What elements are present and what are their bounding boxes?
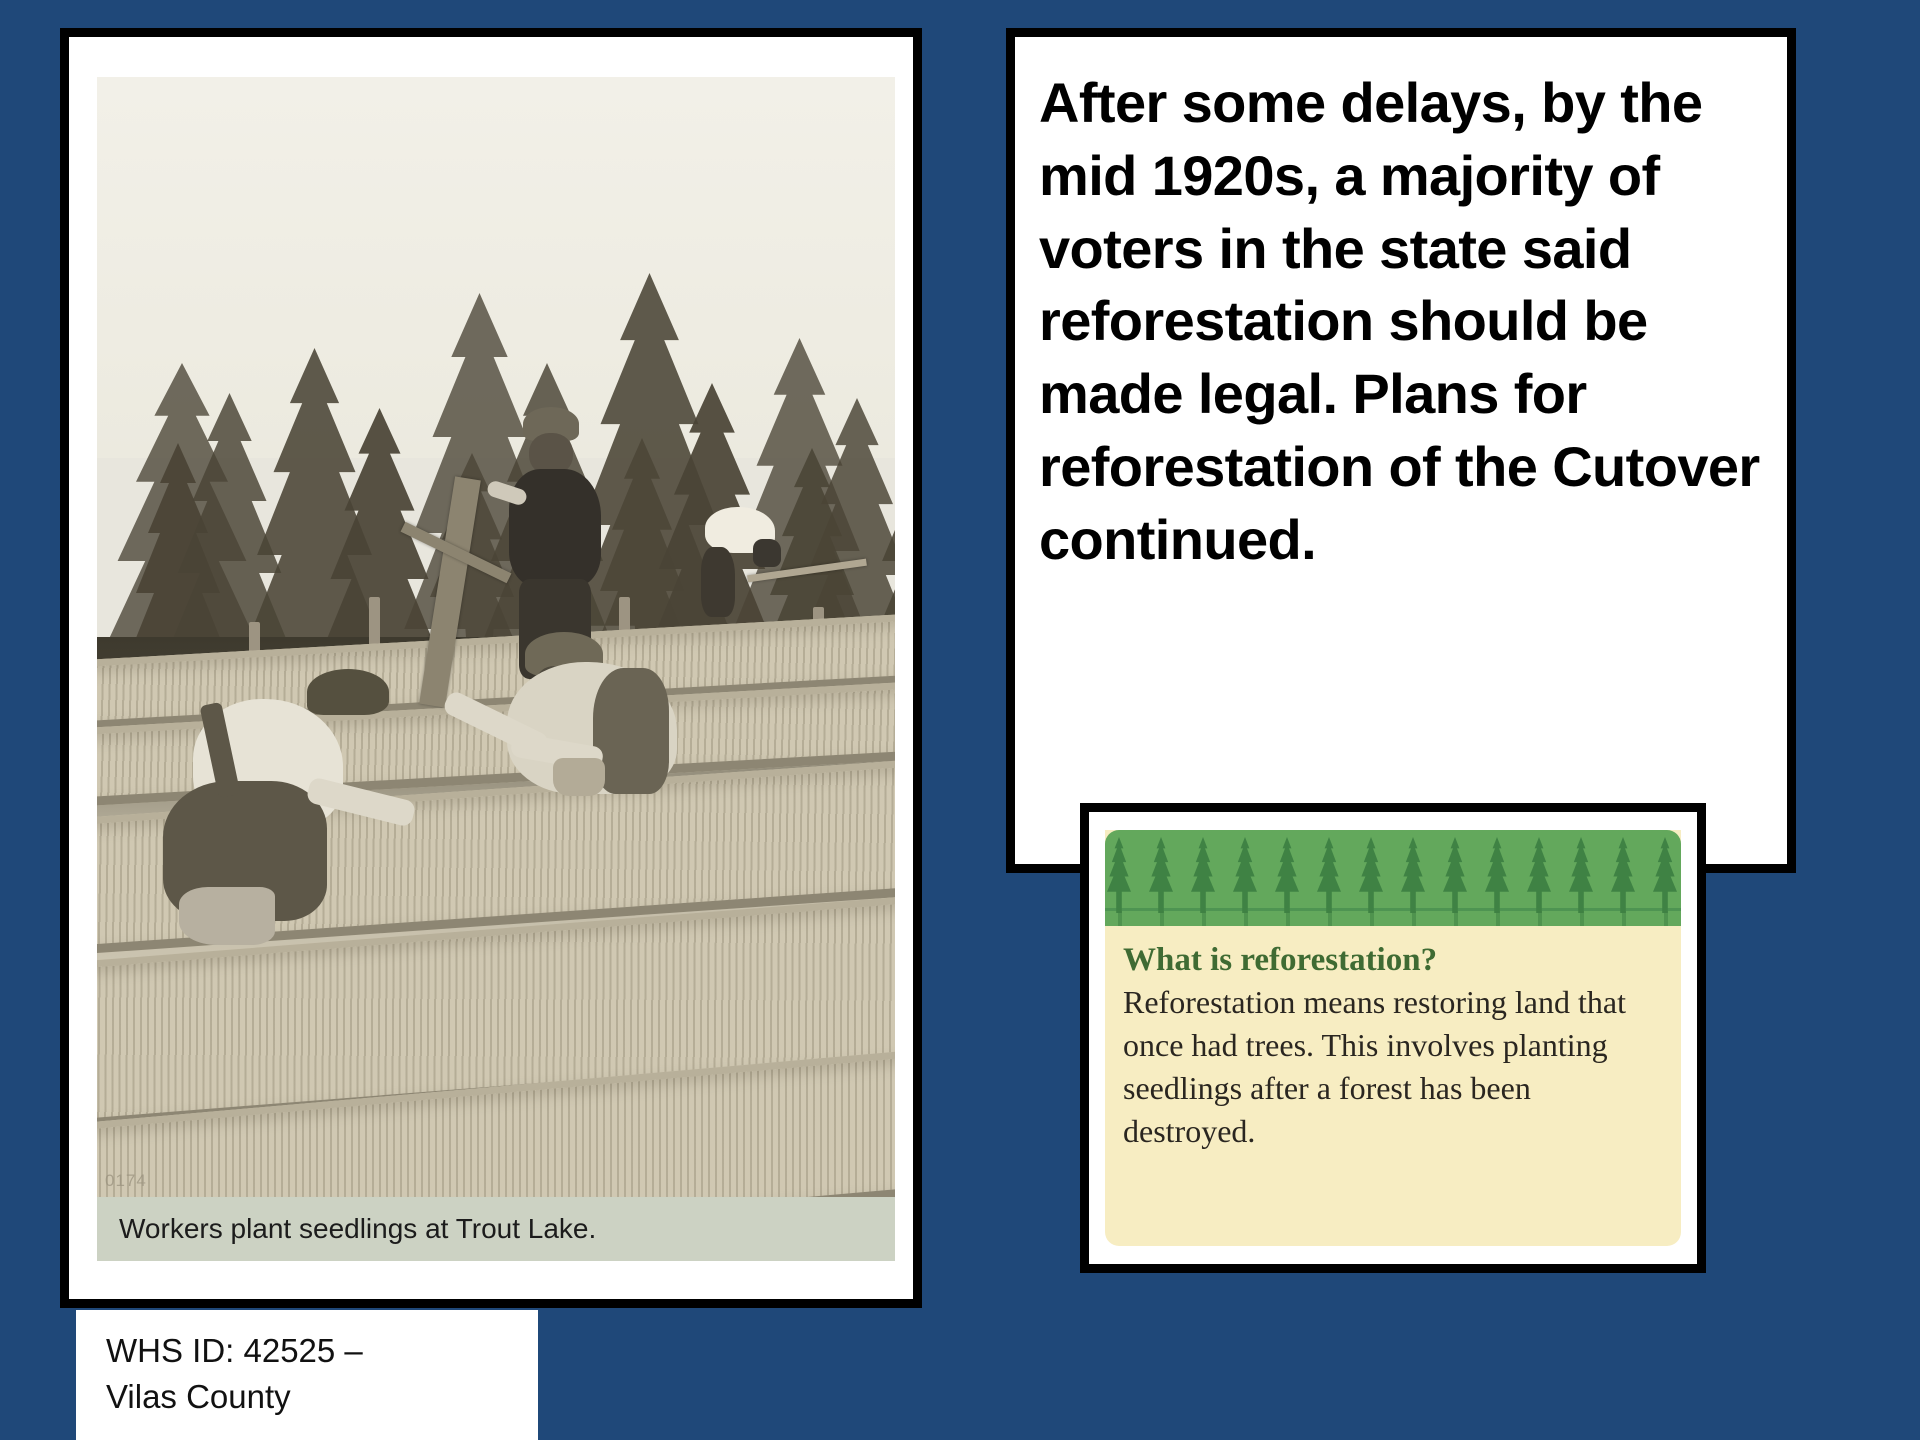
photo-worker-legs: [701, 547, 735, 617]
photograph-inner: 0174 Workers plant seedlings at Trout La…: [97, 77, 895, 1261]
photo-seedling-pail: [553, 758, 605, 796]
tree-band-notch: [1412, 911, 1416, 926]
pine-tree-icon: [1225, 837, 1265, 913]
main-text-box: After some delays, by the mid 1920s, a m…: [1006, 28, 1796, 873]
tree-band-notch: [1538, 911, 1542, 926]
photograph-frame: 0174 Workers plant seedlings at Trout La…: [60, 28, 922, 1308]
tree-band-notch: [1286, 911, 1290, 926]
pine-tree-row-icon: [1105, 830, 1681, 926]
pine-tree-icon: [1645, 837, 1681, 913]
photo-worker-head: [753, 539, 781, 567]
tree-band-notch: [1664, 911, 1668, 926]
historic-photograph: 0174: [97, 77, 895, 1197]
pine-tree-icon: [1267, 837, 1307, 913]
pine-tree-icon: [1435, 837, 1475, 913]
photo-caption: Workers plant seedlings at Trout Lake.: [97, 1197, 895, 1261]
tree-band-notch: [1622, 911, 1626, 926]
tree-band-notch: [1370, 911, 1374, 926]
whs-county-line: Vilas County: [106, 1374, 538, 1420]
pine-tree-icon: [1309, 837, 1349, 913]
tree-band-notch: [1496, 911, 1500, 926]
whs-credit-box: WHS ID: 42525 – Vilas County: [76, 1310, 538, 1440]
photo-kneeling-worker-left: [157, 669, 417, 949]
info-card: What is reforestation? Reforestation mea…: [1105, 830, 1681, 1246]
pine-tree-icon: [1393, 837, 1433, 913]
info-box-title: What is reforestation?: [1123, 942, 1681, 979]
tree-band-notch: [1202, 911, 1206, 926]
tree-band-notch: [1118, 911, 1122, 926]
photo-archival-stamp: 0174: [105, 1171, 147, 1191]
main-text-body: After some delays, by the mid 1920s, a m…: [1039, 67, 1761, 577]
pine-tree-icon: [1105, 837, 1139, 913]
info-box-body: Reforestation means restoring land that …: [1123, 981, 1663, 1153]
tree-band-notch: [1580, 911, 1584, 926]
reforestation-info-box: What is reforestation? Reforestation mea…: [1080, 803, 1706, 1273]
pine-tree-icon: [1141, 837, 1181, 913]
photo-worker-boot: [179, 887, 275, 945]
tree-band-notch: [1244, 911, 1248, 926]
tree-band-notch: [1454, 911, 1458, 926]
pine-tree-icon: [1561, 837, 1601, 913]
photo-kneeling-worker-right: [445, 632, 695, 862]
pine-tree-icon: [1183, 837, 1223, 913]
tree-band-base: [1105, 908, 1681, 926]
pine-tree-icon: [1351, 837, 1391, 913]
tree-band-notch: [1160, 911, 1164, 926]
photo-worker-torso: [509, 469, 601, 587]
tree-band-notch: [1328, 911, 1332, 926]
photo-caption-text: Workers plant seedlings at Trout Lake.: [97, 1213, 596, 1245]
pine-tree-icon: [1519, 837, 1559, 913]
whs-id-line: WHS ID: 42525 –: [106, 1328, 538, 1374]
pine-tree-icon: [1603, 837, 1643, 913]
pine-tree-icon: [1477, 837, 1517, 913]
photo-worker-cap: [307, 669, 389, 715]
photo-distant-worker: [695, 507, 785, 617]
